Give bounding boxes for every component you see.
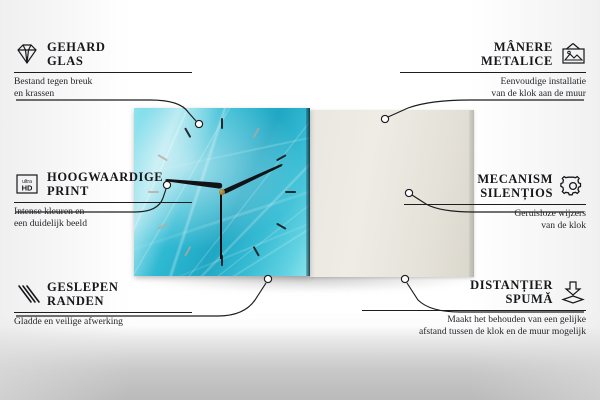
feature-description: Maakt het behouden van een gelijke afsta… (362, 314, 586, 338)
feature-gehard-glas: GEHARD GLAS Bestand tegen breuk en krass… (14, 40, 192, 100)
spacer-arrow-icon (560, 280, 586, 304)
feature-distantier-spuma: DISTANȚIER SPUMĂ Maakt het behouden van … (362, 278, 586, 338)
gear-icon (560, 174, 586, 198)
feature-divider (14, 312, 192, 313)
feature-header: MÂNERE METALICE (400, 40, 586, 68)
infographic-canvas: GEHARD GLAS Bestand tegen breuk en krass… (0, 0, 600, 400)
beveled-glass-edge (306, 108, 310, 276)
feature-title: GESLEPEN RANDEN (47, 280, 119, 308)
feature-header: ultra HD HOOGWAARDIGE PRINT (14, 170, 192, 198)
feature-divider (362, 310, 586, 311)
feature-title: DISTANȚIER SPUMĂ (470, 278, 553, 306)
feature-title: MECANISM SILENȚIOS (477, 172, 553, 200)
feature-description: Intense kleuren en een duidelijk beeld (14, 206, 192, 230)
feature-divider (404, 204, 586, 205)
feature-mecanism-silentios: MECANISM SILENȚIOS Geruisloze wijzers va… (404, 172, 586, 232)
feature-geslepen-randen: GESLEPEN RANDEN Gladde en veilige afwerk… (14, 280, 192, 328)
feature-title: MÂNERE METALICE (481, 40, 553, 68)
feature-description: Eenvoudige installatie van de klok aan d… (400, 76, 586, 100)
beveled-edges-icon (14, 282, 40, 306)
picture-frame-icon (560, 42, 586, 66)
feature-header: MECANISM SILENȚIOS (404, 172, 586, 200)
feature-divider (14, 202, 192, 203)
feature-manere-metalice: MÂNERE METALICE Eenvoudige installatie v… (400, 40, 586, 100)
feature-header: GEHARD GLAS (14, 40, 192, 68)
feature-title: HOOGWAARDIGE PRINT (47, 170, 163, 198)
feature-header: GESLEPEN RANDEN (14, 280, 192, 308)
feature-header: DISTANȚIER SPUMĂ (362, 278, 586, 306)
feature-hoogwaardige-print: ultra HD HOOGWAARDIGE PRINT Intense kleu… (14, 170, 192, 230)
feature-divider (400, 72, 586, 73)
feature-description: Bestand tegen breuk en krassen (14, 76, 192, 100)
feature-divider (14, 72, 192, 73)
clock-center-pivot (219, 189, 225, 195)
svg-text:HD: HD (22, 184, 33, 193)
feature-title: GEHARD GLAS (47, 40, 105, 68)
feature-description: Gladde en veilige afwerking (14, 316, 192, 328)
second-hand (220, 191, 222, 259)
diamond-icon (14, 42, 40, 66)
ultra-hd-icon: ultra HD (14, 172, 40, 196)
feature-description: Geruisloze wijzers van de klok (404, 208, 586, 232)
